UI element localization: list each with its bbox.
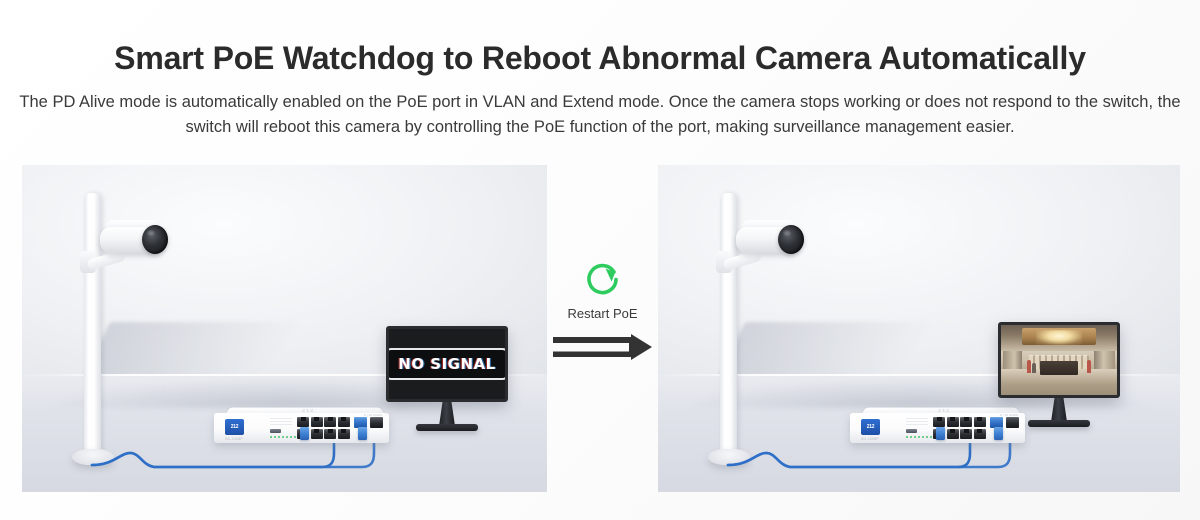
uplink-port[interactable] [370,417,383,428]
switch-console-port [270,429,281,433]
switch-port-legend [270,418,292,426]
rj45-port[interactable] [933,417,945,427]
camera-lens-icon [142,225,168,254]
rj45-port[interactable] [960,429,972,439]
before-reboot-panel: 212 212 SG-1008P [22,165,547,492]
camera-pole [84,193,101,455]
no-signal-badge: NO SIGNAL [386,348,508,380]
lobby-chandelier [1036,330,1082,345]
switch-model-label: SG-1008P [225,437,243,441]
lobby-person [1087,360,1091,373]
lobby-left-column [1003,351,1022,371]
rj45-port[interactable] [311,429,323,439]
poe-switch[interactable]: 212 212 SG-1008P [850,401,1025,449]
page-title: Smart PoE Watchdog to Reboot Abnormal Ca… [0,40,1200,77]
switch-led-strip [270,436,300,438]
switch-model-label: SG-1008P [861,437,879,441]
switch-brand-badge: 212 [225,419,244,435]
lobby-reception-desk [1040,361,1077,375]
rj45-port[interactable] [311,417,323,427]
rj45-port[interactable] [947,417,959,427]
wall-shadow [81,322,351,380]
lobby-person [1032,363,1036,373]
right-arrow-icon [551,334,655,368]
monitor-stand-base [1028,420,1090,427]
switch-brand-badge: 212 [861,419,880,435]
switch-port-legend [906,418,928,426]
lobby-person [1027,360,1031,373]
rj45-port[interactable] [324,417,336,427]
page-subtitle: The PD Alive mode is automatically enabl… [16,90,1184,140]
rj45-port[interactable] [297,417,309,427]
restart-poe-indicator: Restart PoE [547,165,658,492]
rj45-port[interactable] [974,417,986,427]
lobby-right-column [1094,351,1115,371]
switch-brand-text: 212 [867,424,874,430]
monitor-live-video [998,322,1120,398]
restart-poe-label: Restart PoE [567,306,637,321]
camera-pole [720,193,737,455]
no-signal-text: NO SIGNAL [398,355,495,373]
cable-plug [358,427,367,440]
camera-lens-icon [778,225,804,254]
monitor-screen: NO SIGNAL [386,326,508,402]
rj45-port[interactable] [947,429,959,439]
monitor-no-signal: NO SIGNAL [386,326,508,402]
pole-base [72,449,114,465]
after-reboot-panel: 212 212 SG-1008P [658,165,1180,492]
rj45-port[interactable] [324,429,336,439]
monitor-screen [998,322,1120,398]
surveillance-feed-image [1001,325,1117,395]
circular-refresh-icon [582,259,624,301]
poe-switch[interactable]: 212 212 SG-1008P [214,401,389,449]
wall-shadow [717,322,985,380]
rj45-port[interactable] [338,417,350,427]
switch-led-strip [906,436,936,438]
switch-brand-text: 212 [231,424,238,430]
switch-console-port [906,429,917,433]
rj45-port[interactable] [338,429,350,439]
rj45-port[interactable] [974,429,986,439]
monitor-stand-base [416,424,478,431]
cable-plug [936,427,945,440]
pole-base [708,449,750,465]
cable-plug [300,427,309,440]
rj45-port[interactable] [960,417,972,427]
cable-plug [994,427,1003,440]
uplink-port[interactable] [1006,417,1019,428]
poe-watchdog-feature-page: Smart PoE Watchdog to Reboot Abnormal Ca… [0,0,1200,520]
